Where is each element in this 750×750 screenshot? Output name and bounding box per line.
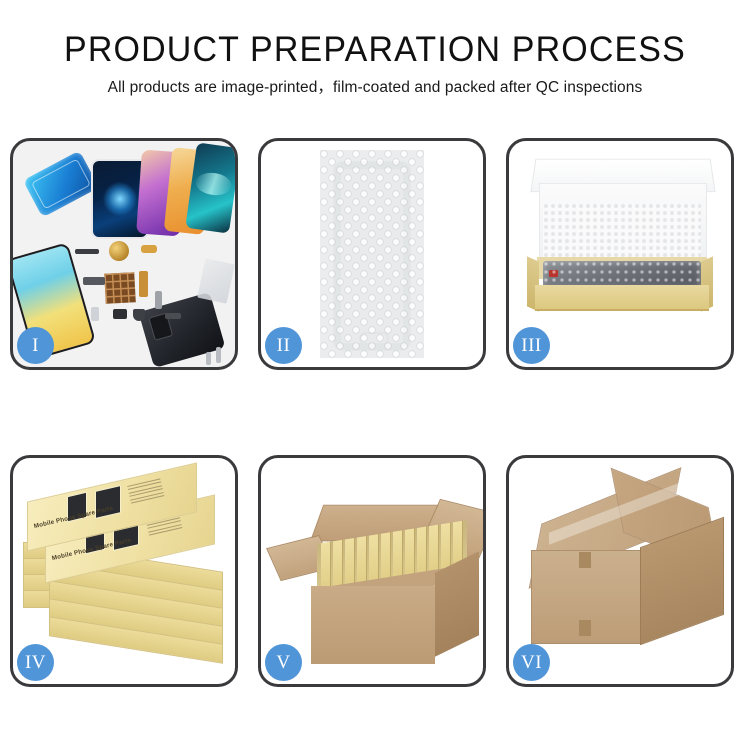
adhesive-sheet — [197, 258, 235, 303]
part-sim-tray — [91, 307, 99, 321]
process-step-panel-1[interactable]: I — [10, 138, 238, 370]
chip-board-component — [104, 272, 136, 304]
carton-front-face — [311, 586, 435, 664]
process-step-panel-3[interactable]: III — [506, 138, 734, 370]
step-badge-6: VI — [513, 644, 550, 681]
process-step-panel-4[interactable]: Mobile Phone Spare Parts Mobile Phone Sp… — [10, 455, 238, 687]
process-step-panel-6[interactable]: VI — [506, 455, 734, 687]
step-badge-2: II — [265, 327, 302, 364]
page-title: PRODUCT PREPARATION PROCESS — [11, 32, 739, 67]
part-ribbon — [139, 271, 148, 297]
part-bracket — [83, 277, 105, 285]
process-steps-grid: I II III — [10, 138, 734, 687]
part-module — [113, 309, 127, 319]
process-step-panel-2[interactable]: II — [258, 138, 486, 370]
part-screwdriver — [216, 347, 221, 363]
speaker-component — [109, 241, 129, 261]
step-badge-1: I — [17, 327, 54, 364]
part-flex-cable — [141, 245, 157, 253]
part-button — [133, 309, 145, 321]
phone-back-housing — [138, 292, 225, 367]
page-subtitle: All products are image-printed，film-coat… — [0, 79, 750, 96]
carton-handle-notch — [579, 620, 591, 636]
bubble-wrap-texture — [320, 150, 424, 358]
part-strip — [75, 249, 99, 254]
carton-handle-notch — [579, 552, 591, 568]
part-connector — [165, 313, 181, 319]
step-badge-4: IV — [17, 644, 54, 681]
bubble-wrap-stage — [320, 150, 424, 358]
part-antenna — [155, 291, 162, 309]
red-label-sticker — [549, 270, 558, 277]
process-step-panel-5[interactable]: V — [258, 455, 486, 687]
part-tool — [206, 352, 211, 365]
blue-screen-protector — [23, 150, 99, 217]
page-header: PRODUCT PREPARATION PROCESS All products… — [0, 0, 750, 96]
step-badge-5: V — [265, 644, 302, 681]
kraft-tray-front-wall — [535, 285, 709, 311]
step-badge-3: III — [513, 327, 550, 364]
